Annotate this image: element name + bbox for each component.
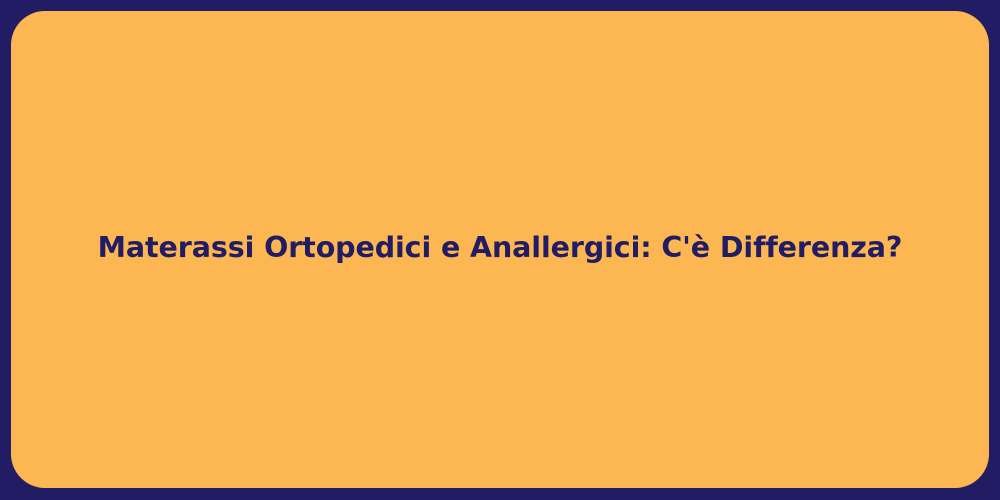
- banner-card: Materassi Ortopedici e Anallergici: C'è …: [11, 11, 989, 488]
- page-title: Materassi Ortopedici e Anallergici: C'è …: [11, 230, 989, 266]
- banner-frame: Materassi Ortopedici e Anallergici: C'è …: [0, 0, 1000, 500]
- banner-heading-wrap: Materassi Ortopedici e Anallergici: C'è …: [11, 230, 989, 266]
